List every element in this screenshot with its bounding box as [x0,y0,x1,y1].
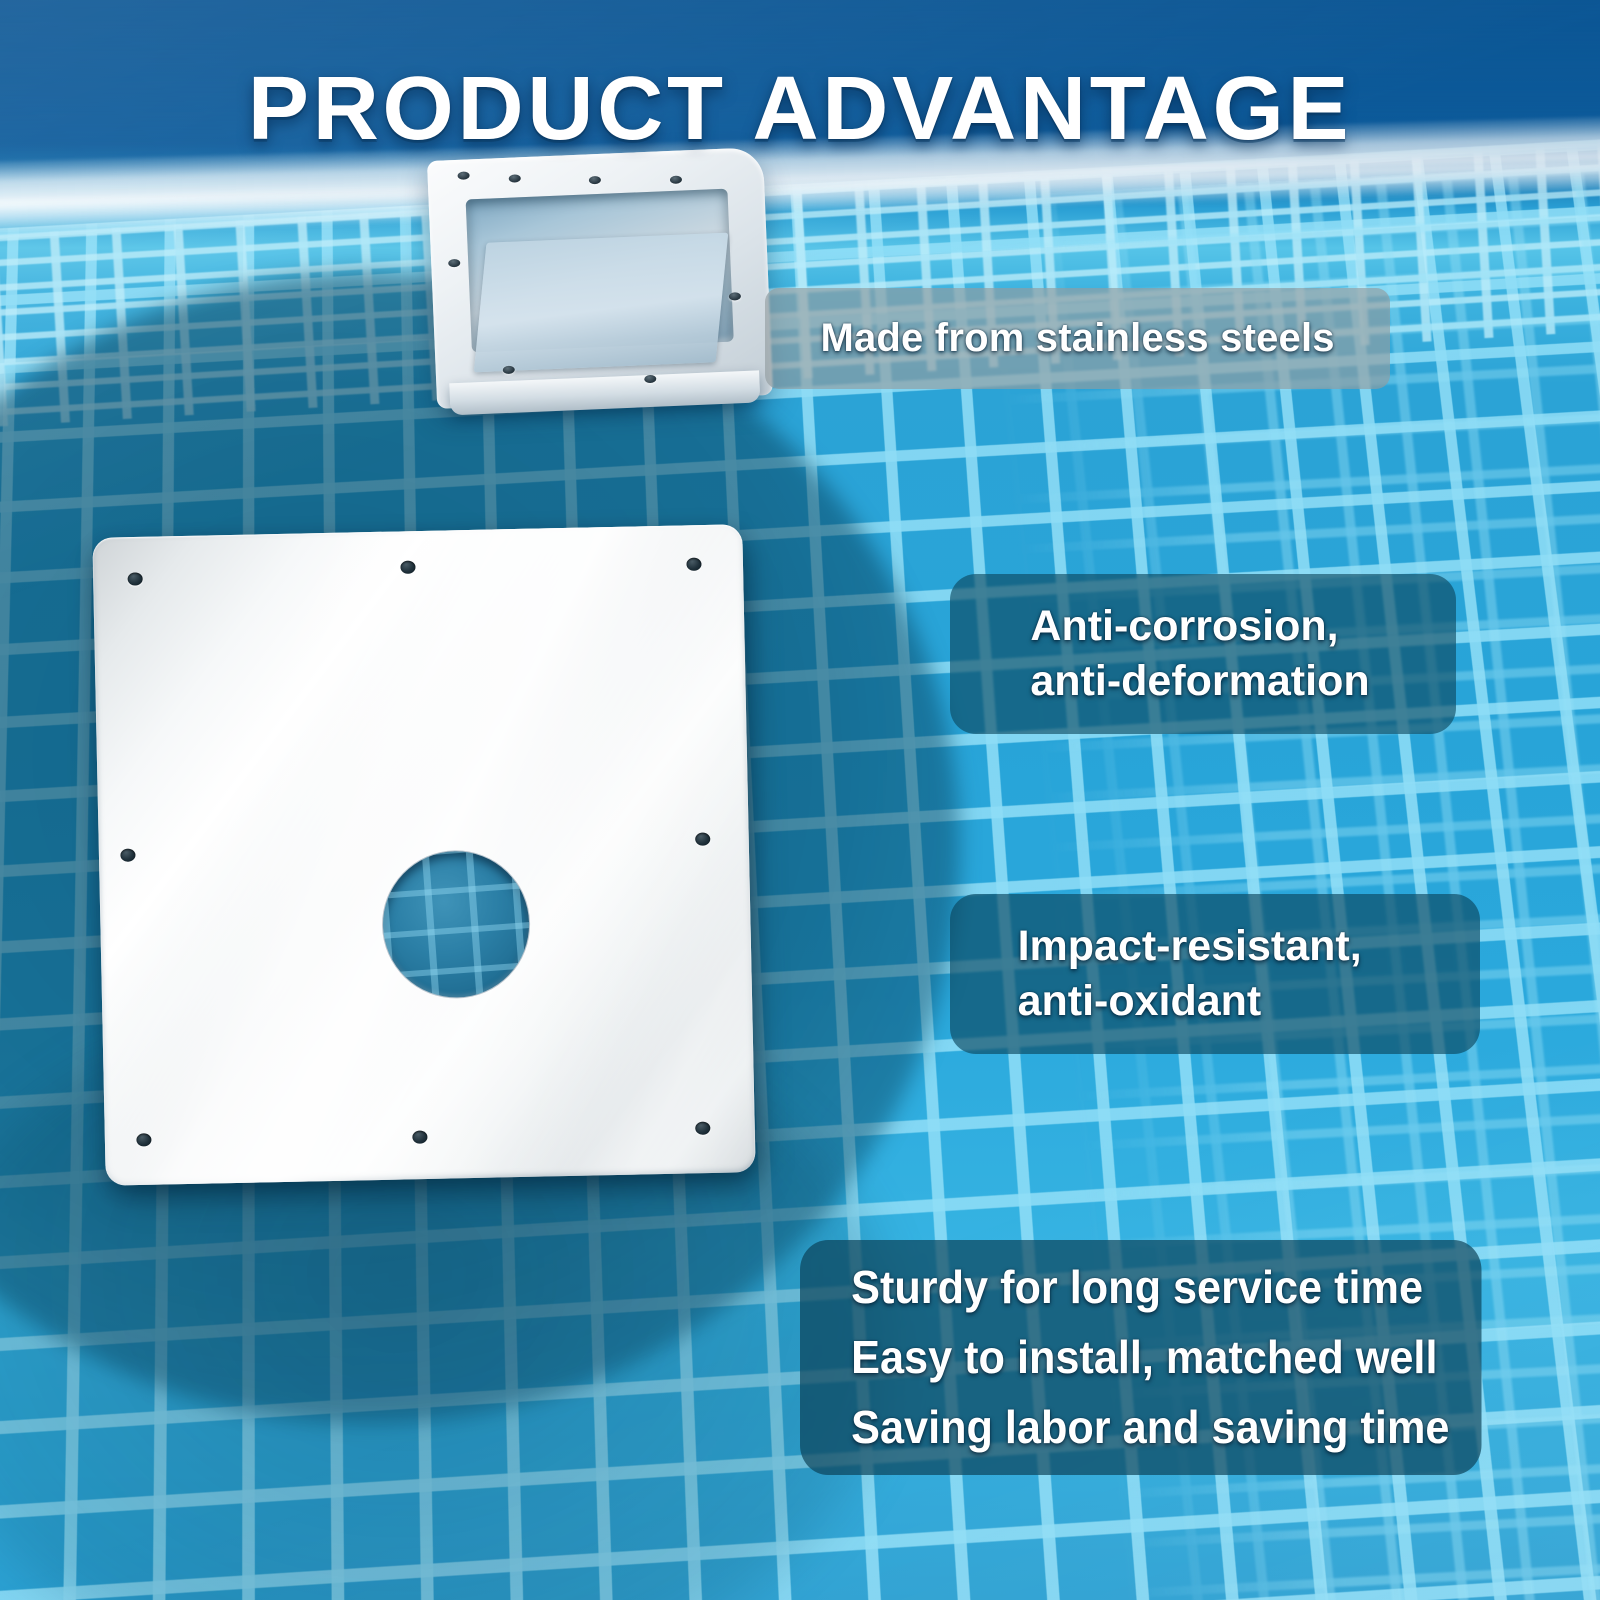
plate-mounting-hole [686,558,701,571]
advertisement-canvas: PRODUCT ADVANTAGE Made from stainless st… [0,0,1600,1600]
plate-center-hole [382,850,531,999]
benefit-line-3: Saving labor and saving time [851,1393,1449,1463]
plate-mounting-hole [136,1133,151,1146]
feature-label-line-2: anti-oxidant [1018,974,1362,1029]
page-title: PRODUCT ADVANTAGE [0,64,1600,154]
plate-mounting-hole [695,1121,710,1134]
skimmer-screw-hole [508,174,520,182]
feature-label-anti-corrosion-anti-deformation: Anti-corrosion, anti-deformation [950,574,1456,734]
feature-label-line-1: Anti-corrosion, [1030,599,1369,654]
plate-mounting-hole [128,573,143,586]
feature-label-text: Made from stainless steels [820,316,1334,361]
skimmer-screw-hole [448,259,460,267]
pool-skimmer-housing [427,147,773,409]
plate-surface [92,524,755,1185]
skimmer-weir-flap [474,232,728,372]
plate-mounting-hole [695,833,710,846]
feature-label-impact-resistant-anti-oxidant: Impact-resistant, anti-oxidant [950,894,1480,1054]
benefits-label-box: Sturdy for long service time Easy to ins… [800,1240,1481,1475]
plate-mounting-hole [121,848,136,861]
skimmer-screw-hole [728,292,740,300]
feature-label-line-1: Impact-resistant, [1018,919,1362,974]
benefit-line-1: Sturdy for long service time [851,1253,1423,1323]
plate-mounting-hole [401,560,416,573]
feature-label-line-2: anti-deformation [1030,654,1369,709]
skimmer-screw-hole [670,175,682,183]
feature-label-made-from-stainless-steels: Made from stainless steels [765,288,1391,389]
stainless-steel-mounting-plate [92,524,755,1185]
plate-mounting-hole [413,1131,428,1144]
benefit-line-2: Easy to install, matched well [851,1323,1437,1393]
